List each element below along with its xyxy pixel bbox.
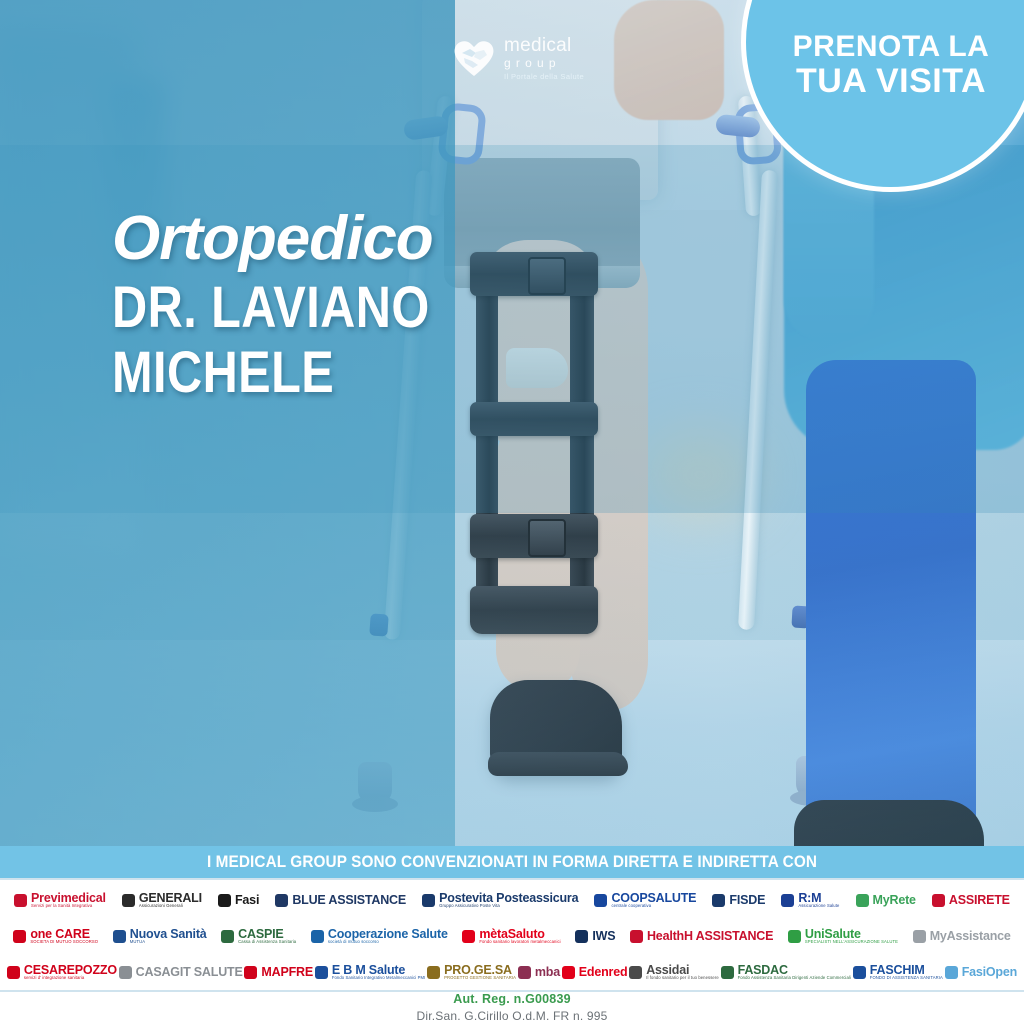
- partner-subtitle: società di mutuo soccorso: [328, 940, 448, 944]
- partner-logo[interactable]: Fasi: [218, 884, 259, 916]
- partner-row-2: one CARESOCIETA DI MUTUO SOCCORSONuova S…: [0, 919, 1024, 953]
- partner-logo[interactable]: PRO.GE.SAPROGETTO GESTIONE SANITARIA: [427, 956, 516, 988]
- partner-name: MAPFRE: [261, 966, 313, 979]
- photo-tint-left: [0, 0, 455, 868]
- partner-logo[interactable]: FASDACFondo Assistenza Sanitaria Dirigen…: [721, 956, 851, 988]
- poste-icon: [422, 894, 435, 907]
- assirete-icon: [932, 894, 945, 907]
- partner-name: CASAGIT SALUTE: [136, 966, 243, 979]
- partner-subtitle: servizi d' integrazione sanitaria: [24, 976, 117, 980]
- fisde-icon: [712, 894, 725, 907]
- partner-subtitle: Gruppo Assicurativo Poste Vita: [439, 904, 578, 908]
- partner-subtitle: SPECIALISTI NELL'ASSICURAZIONE SALUTE: [805, 940, 898, 944]
- partner-logo-text: Postevita PosteassicuraGruppo Assicurati…: [439, 892, 578, 909]
- partner-logo[interactable]: IWS: [575, 920, 615, 952]
- partner-logos: PrevimedicalServizi per la Sanità Integr…: [0, 880, 1024, 990]
- partner-logo[interactable]: Nuova SanitàMUTUA: [113, 920, 207, 952]
- partner-logo-text: E B M SaluteFondo Sanitario Integrativo …: [332, 964, 426, 981]
- partner-logo-text: HealthH ASSISTANCE: [647, 930, 773, 943]
- partner-subtitle: Fondo sanitario lavoratori metalmeccanic…: [479, 940, 560, 944]
- partner-logo-text: Fasi: [235, 894, 259, 907]
- partner-logo-text: mba: [535, 966, 560, 979]
- doctor-specialty: Ortopedico: [112, 208, 632, 270]
- partner-logo[interactable]: HealthH ASSISTANCE: [630, 920, 773, 952]
- partner-subtitle: Assicurazione Salute: [798, 904, 839, 908]
- mba-icon: [518, 966, 531, 979]
- partner-logo-text: FASDACFondo Assistenza Sanitaria Dirigen…: [738, 964, 851, 981]
- myrete-globe-icon: [856, 894, 869, 907]
- legal-footer: Aut. Reg. n.G00839 Dir.San. G.Cirillo O.…: [0, 992, 1024, 1024]
- partner-logo[interactable]: BLUE ASSISTANCE: [275, 884, 406, 916]
- partner-logo[interactable]: Cooperazione Salutesocietà di mutuo socc…: [311, 920, 448, 952]
- badge-line-2: TUA VISITA: [796, 63, 986, 99]
- partner-logo-text: FasiOpen: [962, 966, 1017, 979]
- partner-name: Edenred: [579, 966, 628, 979]
- metasalute-icon: [462, 930, 475, 943]
- faschim-icon: [853, 966, 866, 979]
- rbm-icon: [781, 894, 794, 907]
- authorization-number: Aut. Reg. n.G00839: [0, 992, 1024, 1006]
- partner-logo-text: Cooperazione Salutesocietà di mutuo socc…: [328, 928, 448, 945]
- cesarepozzo-icon: [7, 966, 20, 979]
- partner-logo-text: mètaSalutoFondo sanitario lavoratori met…: [479, 928, 560, 945]
- partner-logo[interactable]: FASCHIMFONDO DI ASSISTENZA SANITARIA: [853, 956, 943, 988]
- health-assistance-icon: [630, 930, 643, 943]
- partner-logo[interactable]: MyAssistance: [913, 920, 1011, 952]
- logo-name-primary: medical: [504, 36, 584, 55]
- partner-subtitle: Fondo Assistenza Sanitaria Dirigenti Azi…: [738, 976, 851, 980]
- partner-logo[interactable]: AssidaiIl fondo sanitario per il tuo ben…: [629, 956, 719, 988]
- partner-logo-text: MyRete: [873, 894, 916, 907]
- partner-subtitle: Assicurazioni Generali: [139, 904, 202, 908]
- ns-icon: [113, 930, 126, 943]
- partner-logo[interactable]: UniSaluteSPECIALISTI NELL'ASSICURAZIONE …: [788, 920, 898, 952]
- partner-row-1: PrevimedicalServizi per la Sanità Integr…: [0, 883, 1024, 917]
- partner-subtitle: MUTUA: [130, 940, 207, 944]
- partner-subtitle: Fondo Sanitario Integrativo Metalmeccani…: [332, 976, 426, 980]
- partner-logo-text: one CARESOCIETA DI MUTUO SOCCORSO: [30, 928, 98, 945]
- previmedical-icon: [14, 894, 27, 907]
- partner-logo-text: FISDE: [729, 894, 765, 907]
- partner-name: BLUE ASSISTANCE: [292, 894, 406, 907]
- partner-logo[interactable]: CASAGIT SALUTE: [119, 956, 243, 988]
- partner-subtitle: SOCIETA DI MUTUO SOCCORSO: [30, 940, 98, 944]
- partner-logo[interactable]: COOPSALUTEcentrale cooperativa: [594, 884, 696, 916]
- partner-logo-text: GENERALIAssicurazioni Generali: [139, 892, 202, 909]
- partner-name: Fasi: [235, 894, 259, 907]
- partner-logo[interactable]: mètaSalutoFondo sanitario lavoratori met…: [462, 920, 560, 952]
- partner-logo[interactable]: CESAREPOZZOservizi d' integrazione sanit…: [7, 956, 117, 988]
- generali-lion-icon: [122, 894, 135, 907]
- logo-name-secondary: group: [504, 57, 584, 69]
- partner-logo-text: FASCHIMFONDO DI ASSISTENZA SANITARIA: [870, 964, 943, 981]
- partner-logo-text: UniSaluteSPECIALISTI NELL'ASSICURAZIONE …: [805, 928, 898, 945]
- partner-logo[interactable]: mba: [518, 956, 560, 988]
- partner-logo[interactable]: Edenred: [562, 956, 628, 988]
- partner-logo-text: PrevimedicalServizi per la Sanità Integr…: [31, 892, 106, 909]
- doctor-headline: Ortopedico DR. LAVIANO MICHELE: [112, 208, 632, 400]
- partner-name: ASSIRETE: [949, 894, 1010, 907]
- partner-logo-text: ASSIRETE: [949, 894, 1010, 907]
- coopsalute-icon: [594, 894, 607, 907]
- partner-subtitle: PROGETTO GESTIONE SANITARIA: [444, 976, 516, 980]
- fasi-icon: [218, 894, 231, 907]
- partner-logo-text: Edenred: [579, 966, 628, 979]
- partner-logo[interactable]: FasiOpen: [945, 956, 1017, 988]
- advertisement-poster: medical group Il Portale della Salute PR…: [0, 0, 1024, 1024]
- partner-subtitle: FONDO DI ASSISTENZA SANITARIA: [870, 976, 943, 980]
- partner-subtitle: centrale cooperativa: [611, 904, 696, 908]
- partner-logo-text: IWS: [592, 930, 615, 943]
- heart-handshake-icon: [452, 36, 496, 78]
- partner-logo-text: PRO.GE.SAPROGETTO GESTIONE SANITARIA: [444, 964, 516, 981]
- assidai-icon: [629, 966, 642, 979]
- partner-logo[interactable]: R:MAssicurazione Salute: [781, 884, 839, 916]
- partner-name: IWS: [592, 930, 615, 943]
- partner-logo-text: CASAGIT SALUTE: [136, 966, 243, 979]
- onecare-icon: [13, 930, 26, 943]
- iws-icon: [575, 930, 588, 943]
- caspie-icon: [221, 930, 234, 943]
- casagit-icon: [119, 966, 132, 979]
- partner-logo-text: AssidaiIl fondo sanitario per il tuo ben…: [646, 964, 719, 981]
- partner-row-3: CESAREPOZZOservizi d' integrazione sanit…: [0, 955, 1024, 989]
- partner-name: FISDE: [729, 894, 765, 907]
- partner-name: HealthH ASSISTANCE: [647, 930, 773, 943]
- logo-tagline: Il Portale della Salute: [504, 73, 584, 81]
- partner-logo-text: BLUE ASSISTANCE: [292, 894, 406, 907]
- myassistance-icon: [913, 930, 926, 943]
- conventions-banner: I MEDICAL GROUP SONO CONVENZIONATI IN FO…: [0, 846, 1024, 878]
- partner-logo[interactable]: GENERALIAssicurazioni Generali: [122, 884, 202, 916]
- partner-subtitle: Il fondo sanitario per il tuo benessere: [646, 976, 719, 980]
- partner-logo-text: CESAREPOZZOservizi d' integrazione sanit…: [24, 964, 117, 981]
- fasiopen-icon: [945, 966, 958, 979]
- medical-group-logo[interactable]: medical group Il Portale della Salute: [452, 26, 602, 88]
- sanitary-director: Dir.San. G.Cirillo O.d.M. FR n. 995: [0, 1009, 1024, 1023]
- fasdac-icon: [721, 966, 734, 979]
- partner-subtitle: Cassa di Assistenza Sanitaria: [238, 940, 296, 944]
- partner-logo[interactable]: PrevimedicalServizi per la Sanità Integr…: [14, 884, 106, 916]
- partner-logo[interactable]: one CARESOCIETA DI MUTUO SOCCORSO: [13, 920, 98, 952]
- partner-subtitle: Servizi per la Sanità Integrativa: [31, 904, 106, 908]
- partner-logo-text: CASPIECassa di Assistenza Sanitaria: [238, 928, 296, 945]
- partner-name: MyAssistance: [930, 930, 1011, 943]
- ebm-icon: [315, 966, 328, 979]
- partner-logo[interactable]: FISDE: [712, 884, 765, 916]
- partner-name: FasiOpen: [962, 966, 1017, 979]
- cooperazione-icon: [311, 930, 324, 943]
- logo-wordmark: medical group Il Portale della Salute: [504, 34, 584, 81]
- blue-assistance-icon: [275, 894, 288, 907]
- badge-line-1: PRENOTA LA: [793, 31, 990, 63]
- partner-logo-text: Nuova SanitàMUTUA: [130, 928, 207, 945]
- conventions-banner-text: I MEDICAL GROUP SONO CONVENZIONATI IN FO…: [207, 853, 817, 872]
- partner-logo-text: MAPFRE: [261, 966, 313, 979]
- partner-logo[interactable]: ASSIRETE: [932, 884, 1010, 916]
- partner-logo-text: MyAssistance: [930, 930, 1011, 943]
- progesa-icon: [427, 966, 440, 979]
- partner-logo[interactable]: MyRete: [856, 884, 916, 916]
- partner-logo[interactable]: MAPFRE: [244, 956, 313, 988]
- partner-logo-text: COOPSALUTEcentrale cooperativa: [611, 892, 696, 909]
- edenred-icon: [562, 966, 575, 979]
- partner-name: mba: [535, 966, 560, 979]
- partner-logo[interactable]: Postevita PosteassicuraGruppo Assicurati…: [422, 884, 578, 916]
- partner-logo[interactable]: E B M SaluteFondo Sanitario Integrativo …: [315, 956, 426, 988]
- partner-logo[interactable]: CASPIECassa di Assistenza Sanitaria: [221, 920, 296, 952]
- doctor-name-line-1: DR. LAVIANO: [112, 280, 549, 335]
- mapfre-icon: [244, 966, 257, 979]
- unisalute-icon: [788, 930, 801, 943]
- partner-logo-text: R:MAssicurazione Salute: [798, 892, 839, 909]
- partner-name: MyRete: [873, 894, 916, 907]
- doctor-name-line-2: MICHELE: [112, 345, 549, 400]
